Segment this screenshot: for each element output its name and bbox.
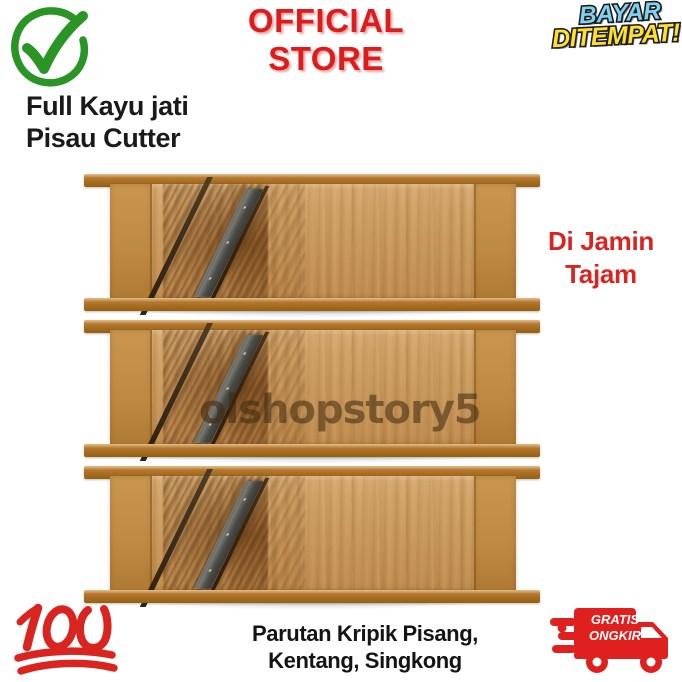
board-right-end bbox=[474, 476, 516, 593]
cod-badge-line2: DITEMPAT! bbox=[551, 21, 678, 53]
official-store-label: OFFICIAL STORE bbox=[196, 2, 456, 78]
slicer-board bbox=[110, 184, 516, 301]
product-caption: Parutan Kripik Pisang, Kentang, Singkong bbox=[200, 620, 530, 674]
caption-line2: Kentang, Singkong bbox=[200, 647, 530, 674]
headline: Full Kayu jati Pisau Cutter bbox=[26, 90, 266, 154]
board-left-end bbox=[110, 330, 152, 447]
cutter-blade-icon bbox=[193, 481, 262, 589]
headline-line2: Pisau Cutter bbox=[26, 122, 266, 154]
slicer-bottom-rail bbox=[84, 444, 540, 457]
sharpness-claim: Di Jamin Tajam bbox=[523, 225, 679, 291]
slicer-middle bbox=[84, 318, 540, 459]
product-listing-image: olshopstory5 OFFICIAL STORE BAYAR DITEMP… bbox=[0, 0, 682, 682]
board-right-end bbox=[474, 330, 516, 447]
slicer-bottom bbox=[84, 464, 540, 605]
slicer-board bbox=[110, 476, 516, 593]
hundred-points-icon bbox=[8, 600, 128, 678]
board-left-end bbox=[110, 184, 152, 301]
headline-line1: Full Kayu jati bbox=[26, 90, 266, 122]
cutter-blade-icon bbox=[193, 335, 262, 443]
claim-line1: Di Jamin bbox=[523, 225, 679, 258]
board-right-end bbox=[474, 184, 516, 301]
caption-line1: Parutan Kripik Pisang, bbox=[200, 620, 530, 647]
slicer-top bbox=[84, 172, 540, 313]
shipping-badge: GRATIS ONGKIR bbox=[548, 600, 676, 676]
board-left-end bbox=[110, 476, 152, 593]
slicer-bottom-rail bbox=[84, 298, 540, 311]
claim-line2: Tajam bbox=[523, 258, 679, 291]
cod-badge: BAYAR DITEMPAT! bbox=[552, 2, 678, 64]
cutter-blade-icon bbox=[193, 189, 262, 297]
slicer-board bbox=[110, 330, 516, 447]
delivery-truck-icon bbox=[548, 600, 676, 676]
green-check-circle-icon bbox=[4, 4, 96, 96]
slicer-bottom-rail bbox=[84, 590, 540, 603]
